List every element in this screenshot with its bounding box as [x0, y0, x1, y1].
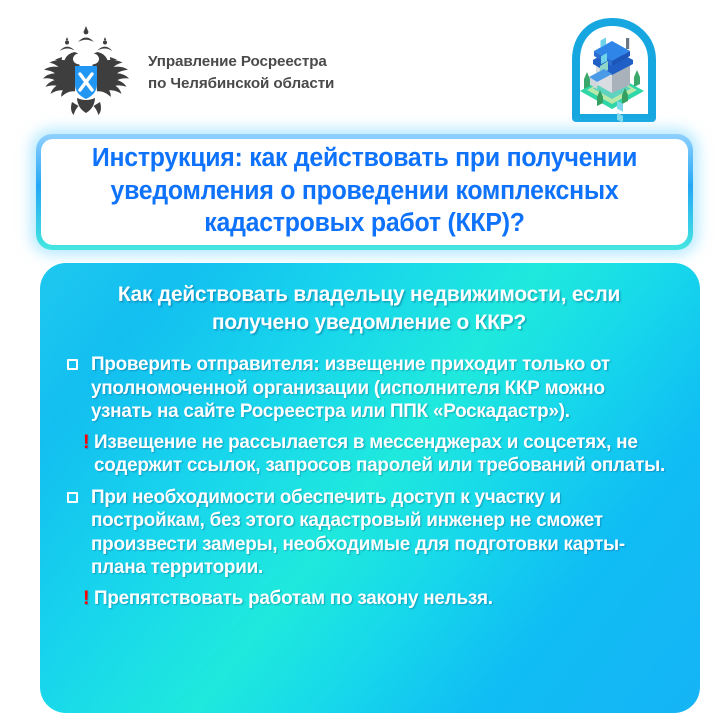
brand-line-1: Управление Росреестра — [148, 50, 334, 72]
brand-lockup: Управление Росреестра по Челябинской обл… — [34, 22, 334, 122]
rosreestr-double-headed-eagle-icon — [34, 22, 138, 122]
header: Управление Росреестра по Челябинской обл… — [0, 0, 728, 128]
page-title: Инструкция: как действовать при получени… — [63, 142, 667, 241]
title-banner: Инструкция: как действовать при получени… — [36, 134, 693, 250]
list-item-text: Проверить отправителя: извещение приходи… — [91, 353, 669, 424]
panel-body: Проверить отправителя: извещение приходи… — [60, 353, 678, 610]
list-item: Проверить отправителя: извещение приходи… — [60, 353, 678, 424]
exclamation-mark-icon: ! — [83, 587, 90, 611]
brand-text: Управление Росреестра по Челябинской обл… — [148, 50, 334, 94]
warning-item: ! Препятствовать работам по закону нельз… — [60, 587, 678, 611]
warning-item-text: Извещение не рассылается в мессенджерах … — [94, 431, 670, 478]
title-banner-inner: Инструкция: как действовать при получени… — [41, 139, 688, 245]
list-item: При необходимости обеспечить доступ к уч… — [60, 486, 678, 580]
panel-heading: Как действовать владельцу недвижимости, … — [66, 279, 672, 336]
brand-line-2: по Челябинской области — [148, 72, 334, 94]
isometric-house-plot-icon — [560, 17, 664, 123]
warning-item-text: Препятствовать работам по закону нельзя. — [94, 587, 493, 611]
checkbox-square-icon — [67, 359, 78, 370]
exclamation-mark-icon: ! — [83, 431, 90, 455]
checkbox-square-icon — [67, 492, 78, 503]
list-item-text: При необходимости обеспечить доступ к уч… — [91, 486, 669, 580]
instructions-panel: Как действовать владельцу недвижимости, … — [40, 263, 700, 713]
infographic-poster: Управление Росреестра по Челябинской обл… — [0, 0, 728, 727]
warning-item: ! Извещение не рассылается в мессенджера… — [60, 431, 678, 478]
